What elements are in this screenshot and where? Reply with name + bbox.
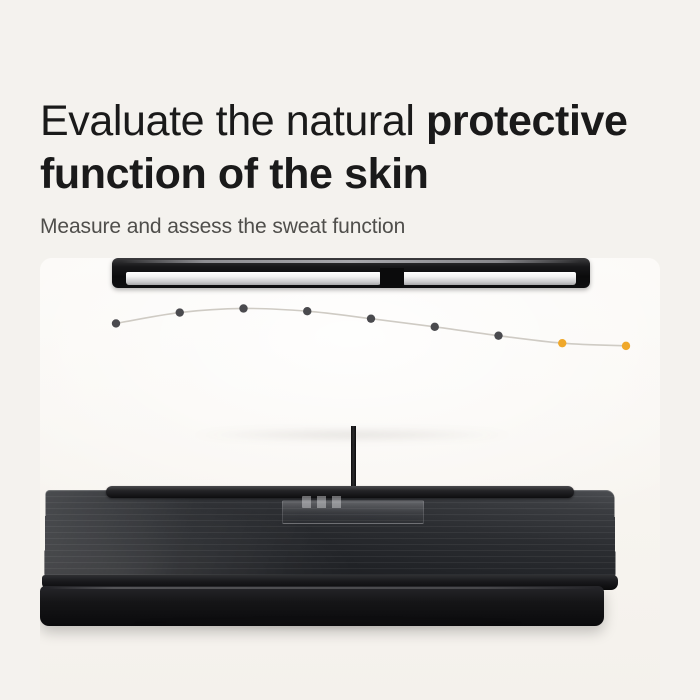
chart-data-point [112,319,120,327]
glass-measurement-platform [40,482,660,632]
page-title: Evaluate the natural protective function… [40,95,670,201]
light-emitter-right [402,272,576,285]
chart-data-point [303,307,311,315]
chart-data-point [367,314,375,322]
platform-ground-shadow [50,622,606,636]
chart-data-point [176,308,184,316]
light-bar-shadow [132,430,572,442]
chart-data-point [239,304,247,312]
chart-data-point [622,342,630,350]
page-root: Evaluate the natural protective function… [0,0,700,700]
chart-line [116,308,626,345]
platform-base-slab [40,586,604,626]
platform-base-highlight [48,587,596,589]
light-bar-center-notch [380,268,404,288]
chart-data-point [558,339,566,347]
sensor-light-bar [112,258,590,288]
headline-regular: Evaluate the natural [40,97,426,145]
light-emitter-left [126,272,381,285]
light-bar-highlight [122,260,580,263]
device-display-glyphs [302,496,398,508]
product-showcase-card [40,258,660,700]
chart-data-point [431,323,439,331]
page-subtitle: Measure and assess the sweat function [40,213,405,241]
chart-data-point [494,331,502,339]
